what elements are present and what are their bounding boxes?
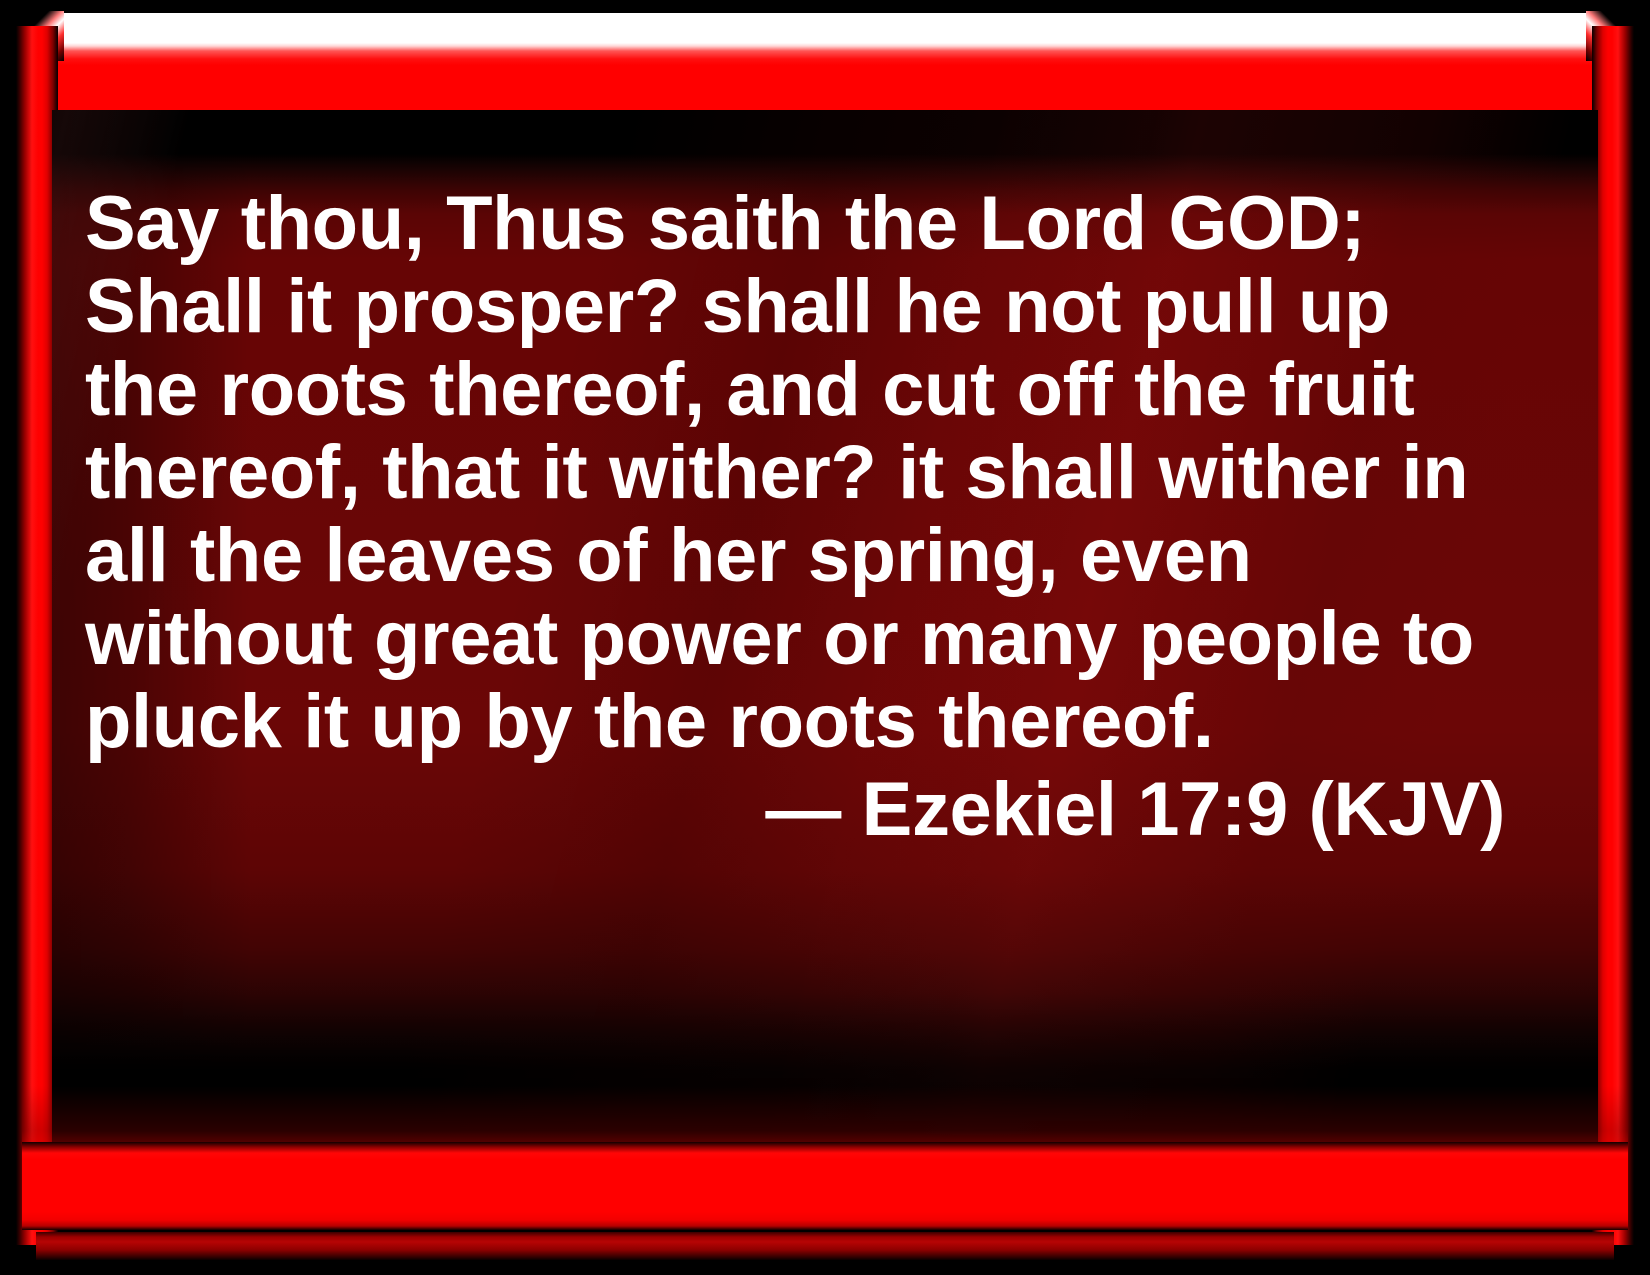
panel-bottom-shade xyxy=(52,993,1598,1163)
frame-bottom-bar xyxy=(22,1142,1628,1230)
verse-reference: — Ezekiel 17:9 (KJV) xyxy=(85,767,1520,853)
scripture-verse-slide: Say thou, Thus saith the Lord GOD; Shall… xyxy=(0,0,1650,1275)
verse-body-text: Say thou, Thus saith the Lord GOD; Shall… xyxy=(85,182,1520,763)
verse-panel: Say thou, Thus saith the Lord GOD; Shall… xyxy=(52,110,1598,1163)
frame-right-rail xyxy=(1592,26,1634,1245)
verse-text-block: Say thou, Thus saith the Lord GOD; Shall… xyxy=(85,182,1520,853)
frame-bottom-strip xyxy=(36,1232,1614,1260)
